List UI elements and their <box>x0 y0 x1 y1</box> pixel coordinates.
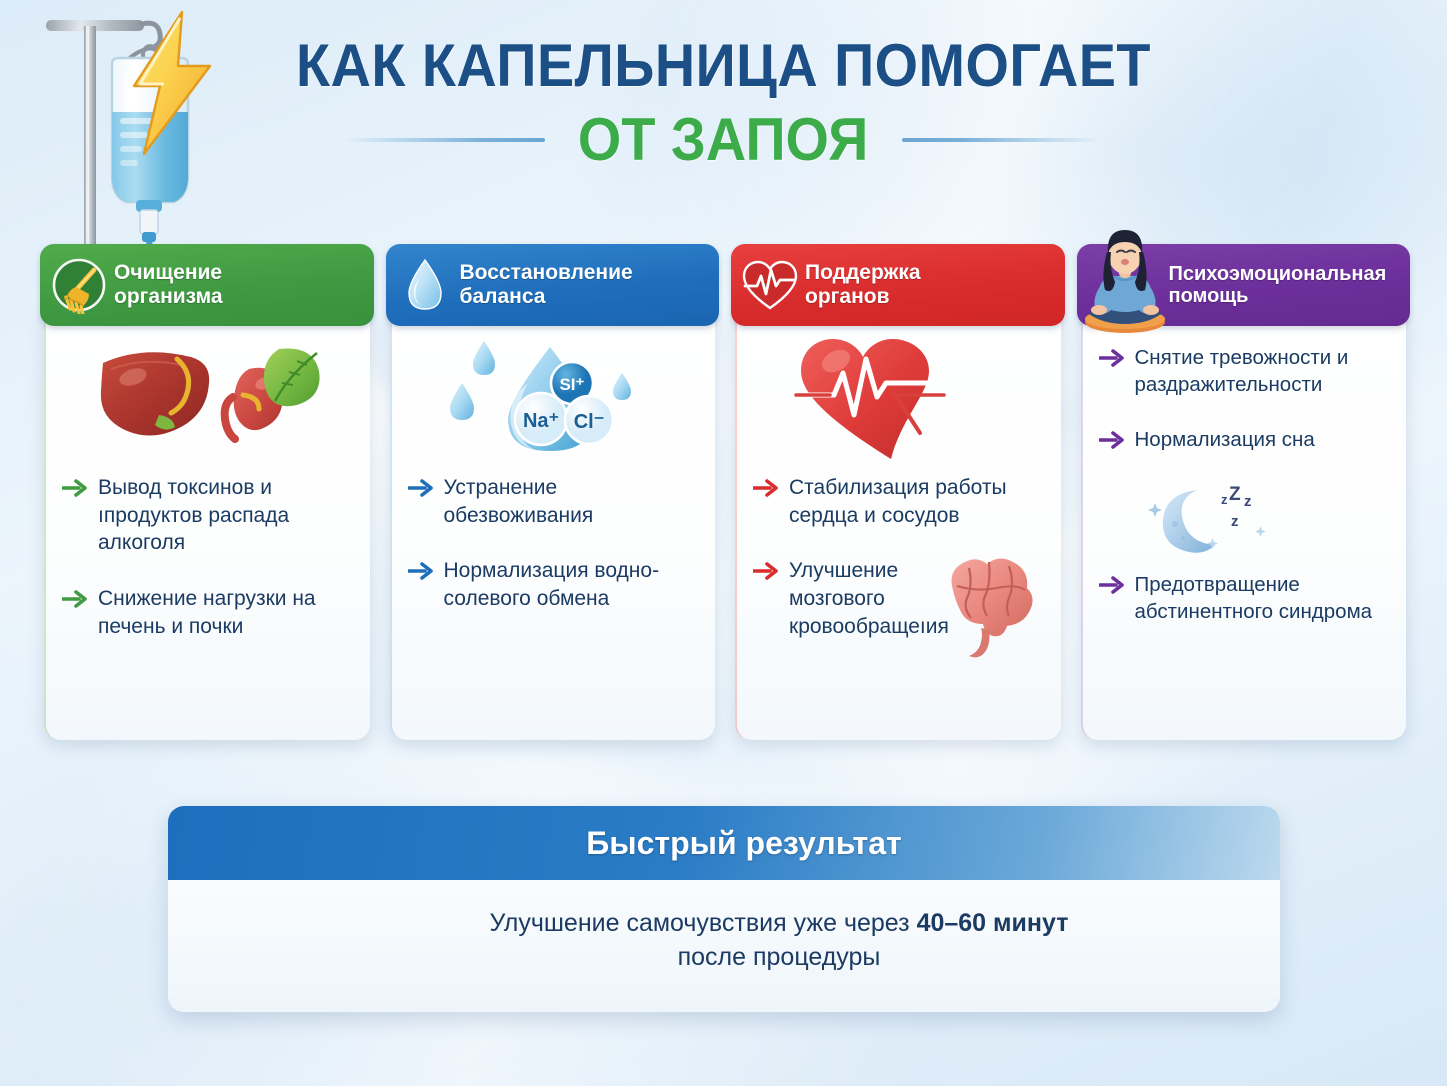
card-header-title: Очищение организма <box>114 261 223 308</box>
arrow-right-icon <box>408 562 434 585</box>
list-item[interactable]: Снижение нагрузки на печень и почки <box>62 585 350 640</box>
card-header-title: Психоэмоциональная помощь <box>1169 263 1387 308</box>
zzz-small: z <box>1221 492 1228 507</box>
ion-label-na: Na⁺ <box>523 410 559 432</box>
card-body-cleansing: Вывод токсинов и ıпродуктов распада алко… <box>44 306 370 740</box>
benefit-cards: Очищение организма <box>40 244 1410 744</box>
card-header-psycho: Психоэмоциональная помощь <box>1077 244 1411 326</box>
arrow-right-icon <box>62 590 88 613</box>
list-item[interactable]: Нормализация сна <box>1099 426 1387 454</box>
electrolyte-droplets-icon: SI⁺ Na⁺ Cl⁻ <box>404 328 700 468</box>
card-header-cleansing: Очищение организма <box>40 244 374 326</box>
bullet-list-organs: Стабилизация работы сердца и сосудов Улу… <box>749 474 1045 641</box>
card-body-organs: Стабилизация работы сердца и сосудов Улу… <box>735 306 1061 740</box>
list-item[interactable]: Улучшение мозгового кровообращеıия <box>753 557 1041 640</box>
subtitle-row: ОТ ЗАПОЯ <box>0 110 1447 170</box>
card-cleansing[interactable]: Очищение организма <box>40 244 374 744</box>
banner-line-1: Улучшение самочувствия уже через 40–60 м… <box>318 906 1240 940</box>
banner-line-1-strong: 40–60 минут <box>917 909 1069 937</box>
card-header-title: Восстановление баланса <box>460 261 633 308</box>
zzz-medium: z <box>1244 493 1252 510</box>
title-main: КАК КАПЕЛЬНИЦА ПОМОГАЕТ <box>51 36 1397 96</box>
card-balance[interactable]: Восстановление баланса <box>386 244 720 744</box>
bullet-list-cleansing: Вывод токсинов и ıпродуктов распада алко… <box>58 474 354 641</box>
arrow-right-icon <box>753 479 779 502</box>
banner-header: Быстрый результат <box>168 806 1280 880</box>
card-organs[interactable]: Поддержка органов <box>731 244 1065 744</box>
heart-ecg-icon <box>749 328 1045 468</box>
title-rule-right <box>902 138 1102 142</box>
arrow-right-icon <box>62 479 88 502</box>
card-body-balance: SI⁺ Na⁺ Cl⁻ Устранение обезвоживания <box>390 306 716 740</box>
water-drop-icon <box>394 254 456 316</box>
list-item[interactable]: Вывод токсинов и ıпродуктов распада алко… <box>62 474 350 557</box>
list-item[interactable]: Устранение обезвоживания <box>408 474 696 529</box>
banner-line-1-prefix: Улучшение самочувствия уже через <box>490 909 917 937</box>
arrow-right-icon <box>408 479 434 502</box>
infographic-canvas: КАК КАПЕЛЬНИЦА ПОМОГАЕТ ОТ ЗАПОЯ <box>0 0 1447 1086</box>
arrow-right-icon <box>753 562 779 585</box>
banner-title: Быстрый результат <box>546 825 901 862</box>
arrow-right-icon <box>1099 349 1125 372</box>
list-item[interactable]: Предотвращение абстинентного синдрома <box>1099 571 1387 625</box>
fast-result-banner[interactable]: Быстрый результат Улучшение самочувствия… <box>168 806 1280 1012</box>
list-item-text: Нормализация сна <box>1135 426 1315 453</box>
list-item-text: Снятие тревожности и раздражительности <box>1135 344 1387 398</box>
card-header-title: Поддержка органов <box>805 261 921 308</box>
banner-line-2: после процедуры <box>318 940 1240 974</box>
title-sub: ОТ ЗАПОЯ <box>578 110 868 170</box>
card-body-psycho: Снятие тревожности и раздражительности Н… <box>1081 306 1407 740</box>
list-item-text: Стабилизация работы сердца и сосудов <box>789 474 1041 529</box>
list-item[interactable]: Снятие тревожности и раздражительности <box>1099 344 1387 398</box>
title-rule-left <box>345 138 545 142</box>
list-item-text: Нормализация водно-солевого обмена <box>444 557 696 612</box>
broom-icon <box>48 254 110 316</box>
card-psycho[interactable]: Психоэмоциональная помощь Снятие тревожн… <box>1077 244 1411 744</box>
bullet-list-psycho: Снятие тревожности и раздражительности Н… <box>1095 328 1391 625</box>
banner-subtext: Улучшение самочувствия уже через 40–60 м… <box>168 880 1280 974</box>
ion-label-si: SI⁺ <box>560 375 585 394</box>
arrow-right-icon <box>1099 576 1125 599</box>
list-item[interactable]: Стабилизация работы сердца и сосудов <box>753 474 1041 529</box>
list-item-text: Снижение нагрузки на печень и почки <box>98 585 350 640</box>
liver-kidney-leaf-icon <box>58 328 354 468</box>
moon-zzz-icon: z Z z z <box>1145 482 1387 563</box>
list-item-text: Улучшение мозгового кровообращеıия <box>789 557 939 640</box>
heart-pulse-icon <box>739 254 801 316</box>
bullet-list-balance: Устранение обезвоживания Нормализация во… <box>404 474 700 613</box>
arrow-right-icon <box>1099 431 1125 454</box>
zzz-large: Z <box>1229 484 1241 505</box>
card-header-organs: Поддержка органов <box>731 244 1065 326</box>
meditating-woman-icon <box>1079 226 1171 338</box>
list-item-text: Предотвращение абстинентного синдрома <box>1135 571 1387 625</box>
ion-label-cl: Cl⁻ <box>574 411 605 433</box>
page-title: КАК КАПЕЛЬНИЦА ПОМОГАЕТ ОТ ЗАПОЯ <box>0 36 1447 170</box>
zzz-medium2: z <box>1231 513 1239 530</box>
brain-icon <box>933 546 1053 663</box>
list-item-text: Вывод токсинов и ıпродуктов распада алко… <box>98 474 350 557</box>
list-item[interactable]: Нормализация водно-солевого обмена <box>408 557 696 612</box>
card-header-balance: Восстановление баланса <box>386 244 720 326</box>
list-item-text: Устранение обезвоживания <box>444 474 696 529</box>
